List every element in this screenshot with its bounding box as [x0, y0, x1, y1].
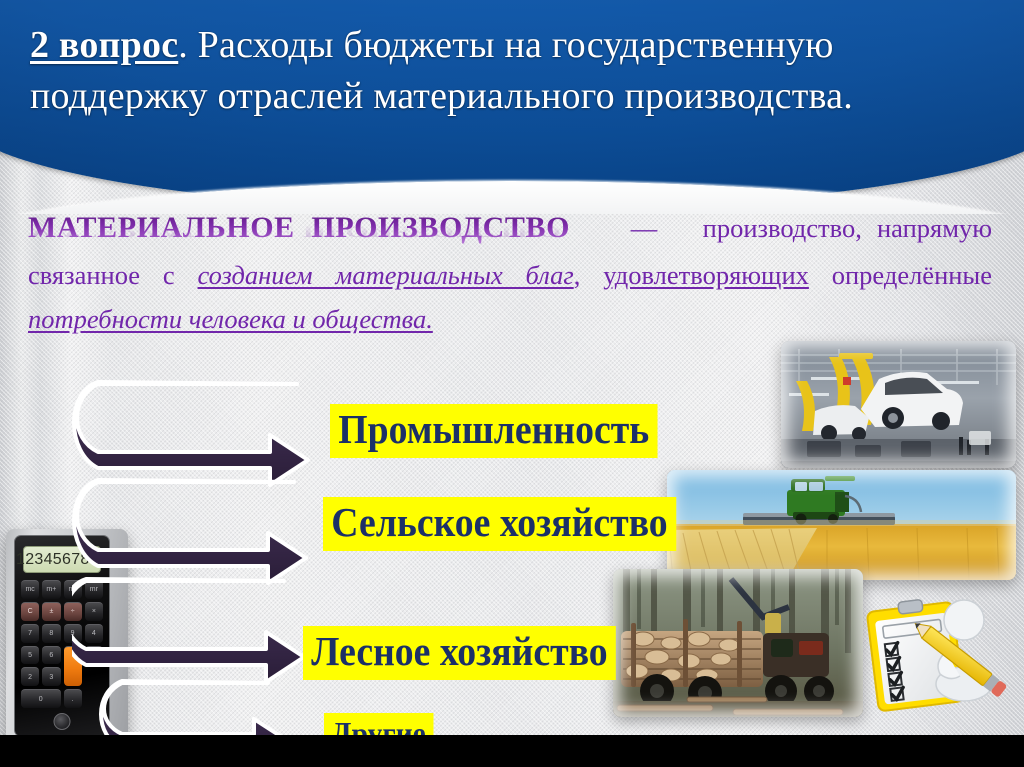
category-label-forestry: Лесное хозяйство	[303, 626, 616, 680]
question-number-label: 2 вопрос	[30, 24, 178, 66]
category-label-agriculture: Сельское хозяйство	[323, 497, 676, 551]
category-label-industry: Промышленность	[330, 404, 657, 458]
calculator-key: mc	[21, 580, 39, 599]
calculator-key: 8	[42, 624, 60, 643]
photo-vignette	[667, 470, 1016, 580]
photo-vignette	[781, 341, 1016, 468]
definition-paragraph: МАТЕРИАЛЬНОЕ ПРОИЗВОДСТВО — производство…	[28, 203, 992, 342]
spiral-arrow-3	[72, 579, 304, 682]
slide-canvas: 2 вопрос. Расходы бюджеты на государстве…	[0, 0, 1024, 767]
calculator-key: 7	[21, 624, 39, 643]
calculator-key: ±	[42, 602, 60, 621]
calculator-key: 2	[21, 667, 39, 686]
clipboard-illustration	[860, 586, 1010, 716]
calculator-home-button	[54, 713, 71, 730]
photo-logging-timber	[613, 569, 863, 717]
spiral-arrow-2	[74, 480, 306, 583]
spiral-arrows-svg	[72, 378, 352, 758]
definition-emphasis-3: потребности человека и общества.	[28, 304, 433, 334]
footer-black-bar	[0, 735, 1024, 767]
calculator-key: 5	[21, 646, 39, 665]
calculator-key: m+	[42, 580, 60, 599]
definition-part-2: определённые	[809, 260, 992, 290]
calculator-key: 6	[42, 646, 60, 665]
definition-emphasis-1: созданием материальных благ	[198, 260, 574, 290]
photo-factory-assembly-line	[781, 341, 1016, 468]
definition-emphasis-2: удовлетворяющих	[603, 260, 809, 290]
calculator-key: 3	[42, 667, 60, 686]
definition-dash: —	[631, 213, 658, 243]
checklist-clipboard-icon	[860, 586, 1010, 716]
calculator-key-clear: C	[21, 602, 39, 621]
definition-comma: ,	[574, 260, 581, 290]
photo-combine-harvester	[667, 470, 1016, 580]
spiral-arrow-1	[74, 382, 308, 485]
definition-term: МАТЕРИАЛЬНОЕ ПРОИЗВОДСТВО	[28, 211, 570, 244]
photo-vignette	[613, 569, 863, 717]
spiral-arrow-group	[72, 378, 352, 758]
page-title: 2 вопрос. Расходы бюджеты на государстве…	[30, 20, 996, 121]
calculator-key-zero: 0	[21, 689, 61, 708]
